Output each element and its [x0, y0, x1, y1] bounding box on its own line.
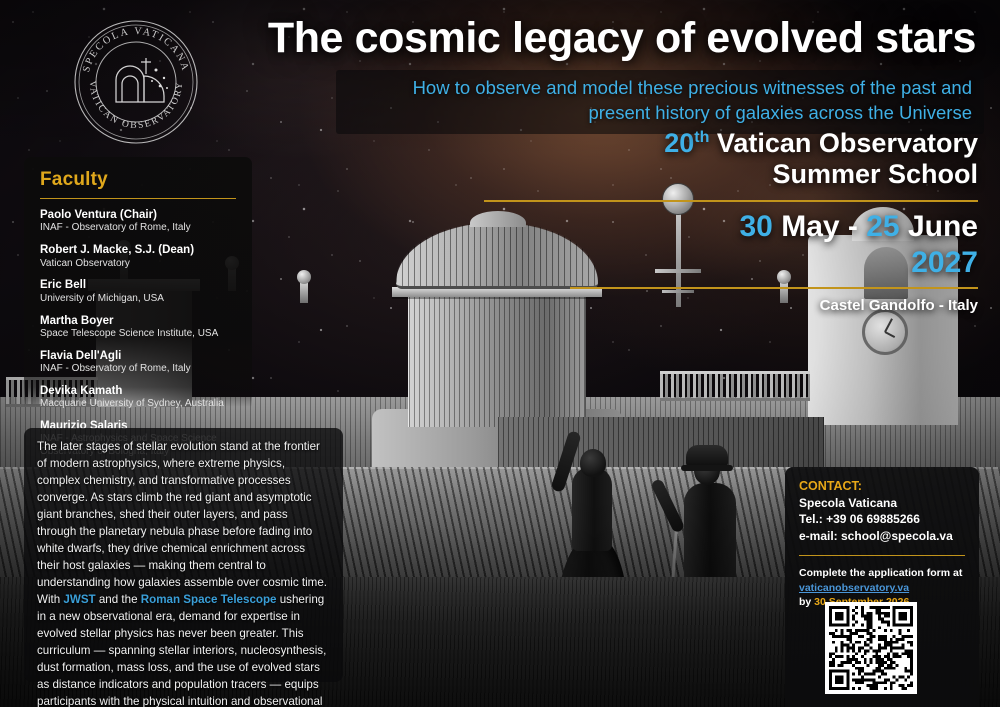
balustrade-right: [660, 371, 810, 401]
faculty-member-affiliation: INAF - Observatory of Rome, Italy: [40, 363, 236, 376]
event-location: Castel Gandolfo - Italy: [458, 297, 978, 314]
faculty-divider: [40, 198, 236, 199]
faculty-member: Paolo Ventura (Chair)INAF - Observatory …: [40, 208, 236, 235]
deadline-prefix: by: [799, 596, 814, 608]
faculty-heading: Faculty: [40, 169, 236, 191]
edition-number: 20: [664, 128, 694, 158]
qr-code-icon[interactable]: [825, 602, 917, 694]
faculty-member: Flavia Dell'AgliINAF - Observatory of Ro…: [40, 349, 236, 376]
date-start-month: May: [781, 210, 839, 243]
edition-ordinal: th: [694, 129, 709, 146]
date-start-day: 30: [739, 210, 772, 243]
application-instruction: Complete the application form at: [799, 566, 965, 581]
contact-panel: CONTACT: Specola Vaticana Tel.: +39 06 6…: [785, 467, 979, 707]
date-end-day: 25: [866, 210, 899, 243]
faculty-member-name: Robert J. Macke, S.J. (Dean): [40, 243, 236, 257]
faculty-member-affiliation: Vatican Observatory: [40, 258, 236, 271]
event-details: 20th Vatican Observatory Summer School 3…: [458, 128, 978, 314]
svg-text:SPECOLA VATICANA: SPECOLA VATICANA: [81, 26, 191, 74]
date-end-month: June: [908, 210, 978, 243]
divider-gold-top: [484, 200, 978, 202]
contact-heading: CONTACT:: [799, 479, 965, 493]
faculty-member-affiliation: INAF - Observatory of Rome, Italy: [40, 222, 236, 235]
seal-top-text: SPECOLA VATICANA: [81, 26, 191, 74]
description-text: The later stages of stellar evolution st…: [37, 438, 330, 707]
subtitle-line-2: present history of galaxies across the U…: [348, 101, 972, 126]
contact-phone[interactable]: Tel.: +39 06 69885266: [799, 511, 965, 527]
faculty-panel: Faculty Paolo Ventura (Chair)INAF - Obse…: [24, 157, 252, 407]
application-website-link[interactable]: vaticanobservatory.va: [799, 581, 965, 596]
faculty-list: Paolo Ventura (Chair)INAF - Observatory …: [40, 208, 236, 459]
seal-dome-icon: [116, 58, 164, 102]
description-part-1: The later stages of stellar evolution st…: [37, 440, 327, 606]
woman-head: [580, 449, 606, 477]
faculty-member-name: Martha Boyer: [40, 314, 236, 328]
event-name-line-2: Summer School: [458, 159, 978, 190]
svg-text:VATICAN OBSERVATORY: VATICAN OBSERVATORY: [87, 80, 185, 131]
faculty-member: Robert J. Macke, S.J. (Dean)Vatican Obse…: [40, 243, 236, 270]
divider-gold-bottom: [570, 287, 978, 289]
finial-3: [300, 281, 308, 303]
subtitle-line-1: How to observe and model these precious …: [348, 76, 972, 101]
description-part-2: and the: [96, 593, 141, 606]
faculty-member-name: Devika Kamath: [40, 384, 236, 398]
contact-organization: Specola Vaticana: [799, 495, 965, 511]
faculty-member: Eric BellUniversity of Michigan, USA: [40, 278, 236, 305]
clock-face-icon: [862, 309, 908, 355]
poster-root: SPECOLA VATICANA VATICAN OBSERVATORY The…: [0, 0, 1000, 707]
woman-bodice: [572, 467, 612, 551]
vatican-observatory-seal-logo: SPECOLA VATICANA VATICAN OBSERVATORY: [72, 18, 200, 146]
faculty-member-affiliation: Space Telescope Science Institute, USA: [40, 328, 236, 341]
event-name-line-1: Vatican Observatory: [717, 128, 978, 158]
jwst-link[interactable]: JWST: [63, 593, 95, 606]
faculty-member-name: Eric Bell: [40, 278, 236, 292]
faculty-member-name: Flavia Dell'Agli: [40, 349, 236, 363]
subtitle-panel: How to observe and model these precious …: [336, 70, 984, 134]
faculty-member-affiliation: Macquarie University of Sydney, Australi…: [40, 398, 236, 411]
description-panel: The later stages of stellar evolution st…: [24, 428, 343, 682]
man-bowler-hat: [686, 445, 728, 467]
faculty-member: Martha BoyerSpace Telescope Science Inst…: [40, 314, 236, 341]
event-edition-and-name: 20th Vatican Observatory: [458, 128, 978, 159]
event-year: 2027: [458, 245, 978, 281]
faculty-member: Devika KamathMacquarie University of Syd…: [40, 384, 236, 411]
faculty-member-affiliation: University of Michigan, USA: [40, 293, 236, 306]
seal-bottom-text: VATICAN OBSERVATORY: [87, 80, 185, 131]
contact-email[interactable]: e-mail: school@specola.va: [799, 528, 965, 544]
faculty-member-name: Paolo Ventura (Chair): [40, 208, 236, 222]
roman-space-telescope-link[interactable]: Roman Space Telescope: [141, 593, 277, 606]
description-part-3: ushering in a new observational era, dem…: [37, 593, 326, 707]
event-dates: 30 May - 25 June: [458, 209, 978, 245]
date-separator: -: [848, 210, 858, 243]
contact-divider: [799, 555, 965, 556]
poster-title: The cosmic legacy of evolved stars: [268, 16, 976, 61]
